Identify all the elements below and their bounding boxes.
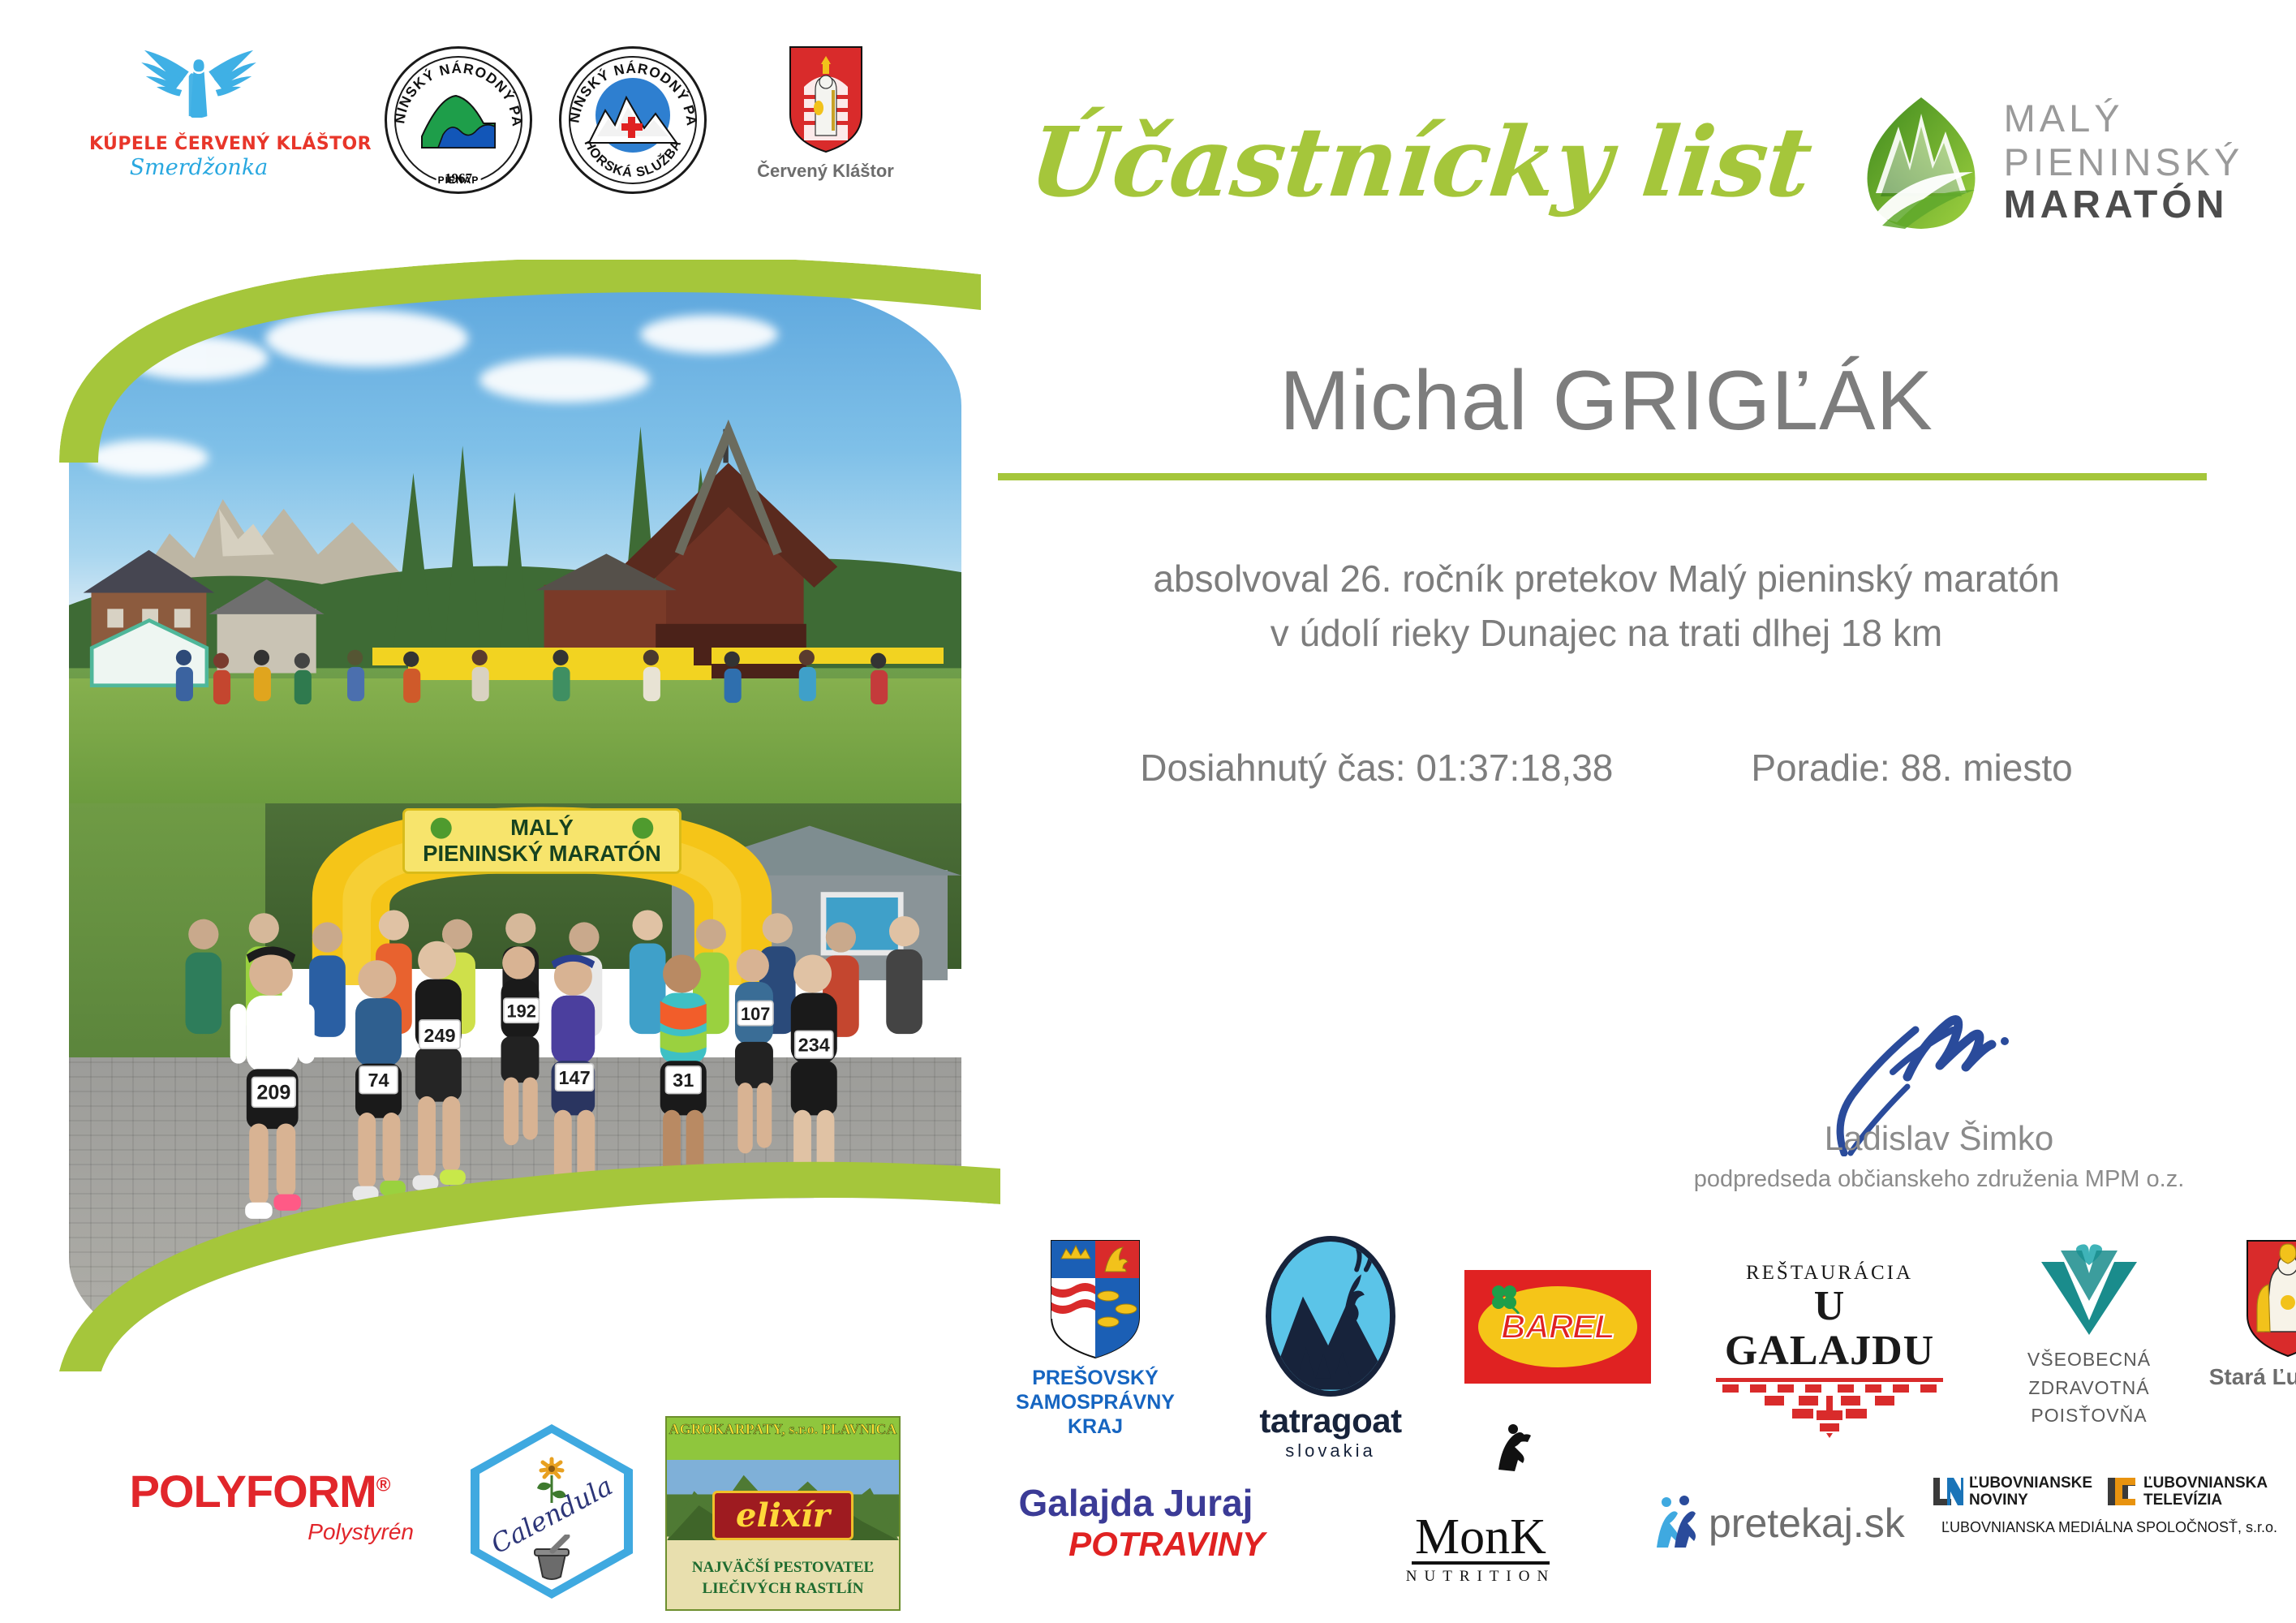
svg-text:147: 147	[558, 1067, 590, 1088]
agrokarpaty-brand: elixír	[712, 1491, 853, 1540]
pienap-year: 1967	[445, 170, 472, 187]
photo-panel: MALÝ PIENINSKÝ MARATÓN	[69, 268, 961, 1404]
two-runners-icon	[1655, 1494, 1702, 1552]
kupele-line2: Smerdžonka	[89, 155, 308, 180]
sponsor-row-2: Galajda Juraj POTRAVINY MonK NUTRITION p	[986, 1473, 2284, 1611]
bottom-left-sponsors: POLYFORM® Polystyrén Calendula AGROKARP	[97, 1416, 974, 1611]
ln-line-2: NOVINY	[1969, 1492, 2092, 1509]
polyform-wordmark: POLYFORM®	[130, 1465, 390, 1518]
tatragoat-wordmark: tatragoat	[1237, 1401, 1424, 1440]
barel-oval: BAREL	[1478, 1286, 1637, 1367]
finish-time: Dosiahnutý čas: 01:37:18,38	[1140, 746, 1613, 790]
logo-lubovnianska-medialna-spolocnost: ĽUBOVNIANSKE NOVINY ĽUBOVNIANSKA TELEVÍZ…	[1931, 1474, 2288, 1536]
logo-vseobecna-zdravotna-poistovna: VŠEOBECNÁ ZDRAVOTNÁ POISŤOVŇA	[1996, 1244, 2182, 1430]
logo-agrokarpaty: AGROKARPATY, s.r.o. PLAVNICA elixír NAJV…	[665, 1416, 901, 1611]
horska-sluzba-circle-icon: PIENINSKÝ NÁRODNÝ PARK HORSKÁ SLUŽBA	[559, 46, 707, 194]
vzp-label: VŠEOBECNÁ ZDRAVOTNÁ POISŤOVŇA	[1996, 1345, 2182, 1430]
logo-barel: BAREL	[1464, 1270, 1651, 1384]
maraton-brand-logo: MALÝ PIENINSKÝ MARATÓN	[1860, 94, 2244, 230]
certificate-description: absolvoval 26. ročník pretekov Malý pien…	[998, 552, 2215, 660]
lubovnianska-televizia: ĽUBOVNIANSKA TELEVÍZIA	[2105, 1474, 2268, 1509]
svg-text:192: 192	[506, 1001, 535, 1022]
stara-lubovna-label: Stará Ľubovňa	[2203, 1364, 2296, 1390]
agrokarpaty-bottom-2: LIEČIVÝCH RASTLÍN	[667, 1580, 899, 1598]
cerveny-klastor-label: Červený Kláštor	[738, 161, 913, 182]
page-title: Účastnícky list	[1025, 114, 1816, 210]
lt-line-1: ĽUBOVNIANSKA	[2143, 1474, 2268, 1492]
vzp-line-1: VŠEOBECNÁ	[1996, 1345, 2182, 1374]
psk-line-1: PREŠOVSKÝ	[990, 1366, 1201, 1390]
logo-horska-sluzba: PIENINSKÝ NÁRODNÝ PARK HORSKÁ SLUŽBA	[552, 46, 714, 194]
lubovnianska-footer: ĽUBOVNIANSKA MEDIÁLNA SPOLOČNOSŤ, s.r.o.	[1931, 1519, 2288, 1536]
green-swoosh-bottom	[59, 1160, 1000, 1371]
lubovnianske-noviny: ĽUBOVNIANSKE NOVINY	[1931, 1474, 2092, 1509]
tatragoat-chamois-icon	[1266, 1236, 1395, 1397]
logo-restauracia-u-galajdu: REŠTAURÁCIA U GALAJDU	[1708, 1262, 1951, 1442]
svg-text:107: 107	[741, 1004, 770, 1024]
participant-name: Michal GRIGĽÁK	[998, 357, 2215, 446]
description-line-1: absolvoval 26. ročník pretekov Malý pien…	[998, 552, 2215, 606]
logo-tatragoat: tatragoat slovakia	[1237, 1236, 1424, 1462]
logo-polyform: POLYFORM® Polystyrén	[97, 1465, 422, 1545]
psk-label: PREŠOVSKÝ SAMOSPRÁVNY KRAJ	[990, 1366, 1201, 1439]
galajdu-line-2: U GALAJDU	[1708, 1285, 1951, 1373]
galajda-juraj-line-1: Galajda Juraj	[1002, 1481, 1270, 1525]
svg-text:31: 31	[673, 1070, 694, 1091]
svg-text:MALÝ: MALÝ	[510, 815, 574, 840]
monk-wordmark: MonK	[1412, 1513, 1550, 1565]
tatragoat-subtitle: slovakia	[1237, 1440, 1424, 1462]
polyform-reg-icon: ®	[376, 1474, 390, 1496]
mortar-pestle-icon	[528, 1535, 575, 1585]
ln-line-1: ĽUBOVNIANSKE	[1969, 1474, 2092, 1492]
svg-text:74: 74	[368, 1070, 389, 1091]
galajdu-line-1: REŠTAURÁCIA	[1708, 1262, 1951, 1285]
svg-text:209: 209	[256, 1081, 290, 1104]
top-sponsor-logos: KÚPELE ČERVENÝ KLÁŠTOR Smerdžonka PIENIN…	[89, 61, 949, 231]
signatory-role: podpredseda občianskeho združenia MPM o.…	[1631, 1166, 2247, 1193]
agrokarpaty-top-text: AGROKARPATY, s.r.o. PLAVNICA	[667, 1421, 899, 1438]
ln-monogram-icon	[1931, 1475, 1963, 1508]
lt-screen-icon	[2105, 1475, 2138, 1508]
psk-coat-of-arms-icon	[1048, 1238, 1142, 1361]
signature-block: Ladislav Šimko podpredseda občianskeho z…	[1631, 1002, 2247, 1193]
monk-subtitle: NUTRITION	[1359, 1568, 1602, 1586]
description-line-2: v údolí rieky Dunajec na trati dlhej 18 …	[998, 606, 2215, 661]
logo-pretekaj-sk: pretekaj.sk	[1655, 1494, 1923, 1552]
lt-line-2: TELEVÍZIA	[2143, 1492, 2268, 1509]
logo-kupele-cerveny-klastor: KÚPELE ČERVENÝ KLÁŠTOR Smerdžonka	[89, 49, 308, 180]
svg-text:PIENINSKÝ MARATÓN: PIENINSKÝ MARATÓN	[423, 841, 661, 866]
certificate-header: Účastnícky list MALÝ PIENINSKÝ MARATÓN	[1030, 89, 2247, 235]
signatory-name: Ladislav Šimko	[1631, 1119, 2247, 1158]
svg-text:249: 249	[424, 1025, 455, 1046]
stara-lubovna-coat-of-arms-icon	[2244, 1238, 2296, 1359]
galajda-juraj-line-2: POTRAVINY	[1002, 1525, 1270, 1564]
kupele-line1: KÚPELE ČERVENÝ KLÁŠTOR	[89, 134, 308, 154]
psk-line-2: SAMOSPRÁVNY	[990, 1390, 1201, 1414]
vzp-line-2: ZDRAVOTNÁ	[1996, 1374, 2182, 1402]
polyform-name: POLYFORM	[130, 1466, 376, 1517]
certificate-body: Michal GRIGĽÁK absolvoval 26. ročník pre…	[998, 357, 2215, 790]
logo-obec-cerveny-klastor: Červený Kláštor	[738, 45, 913, 182]
kupele-angel-icon	[89, 49, 308, 134]
logo-calendula: Calendula	[471, 1424, 633, 1599]
vzp-heart-chevron-icon	[2028, 1244, 2150, 1335]
result-stats: Dosiahnutý čas: 01:37:18,38 Poradie: 88.…	[998, 746, 2215, 790]
leaf-mountain-icon	[1860, 94, 1983, 230]
agrokarpaty-bottom-1: NAJVÄČŠÍ PESTOVATEĽ	[667, 1559, 899, 1577]
green-swoosh-top	[59, 260, 981, 463]
clover-icon	[1488, 1281, 1520, 1314]
brand-line-1: MALÝ	[2004, 97, 2244, 140]
psk-line-3: KRAJ	[990, 1414, 1201, 1439]
pienap-circle-icon: PIENINSKÝ NÁRODNÝ PARK PIENAP 1967	[385, 46, 532, 194]
name-underline-rule	[998, 473, 2207, 480]
sponsor-row-1: PREŠOVSKÝ SAMOSPRÁVNY KRAJ tatragoat slo…	[986, 1238, 2276, 1457]
brand-line-2: PIENINSKÝ	[2004, 140, 2244, 184]
folk-ornament-icon	[1708, 1376, 1951, 1438]
logo-pieninsky-narodny-park: PIENINSKÝ NÁRODNÝ PARK PIENAP 1967	[377, 46, 540, 194]
logo-stara-lubovna: Stará Ľubovňa	[2203, 1238, 2296, 1390]
logo-presovsky-samospravny-kraj: PREŠOVSKÝ SAMOSPRÁVNY KRAJ	[990, 1238, 1201, 1439]
vzp-line-3: POISŤOVŇA	[1996, 1401, 2182, 1430]
polyform-subtitle: Polystyrén	[97, 1519, 422, 1545]
logo-galajda-juraj: Galajda Juraj POTRAVINY	[1002, 1481, 1270, 1564]
svg-text:234: 234	[798, 1035, 830, 1056]
pretekaj-wordmark: pretekaj.sk	[1709, 1500, 1905, 1547]
brand-line-3: MARATÓN	[2004, 183, 2244, 228]
placement: Poradie: 88. miesto	[1751, 746, 2072, 790]
cerveny-klastor-shield-icon	[788, 45, 864, 154]
logo-monk-nutrition: MonK NUTRITION	[1359, 1466, 1602, 1586]
